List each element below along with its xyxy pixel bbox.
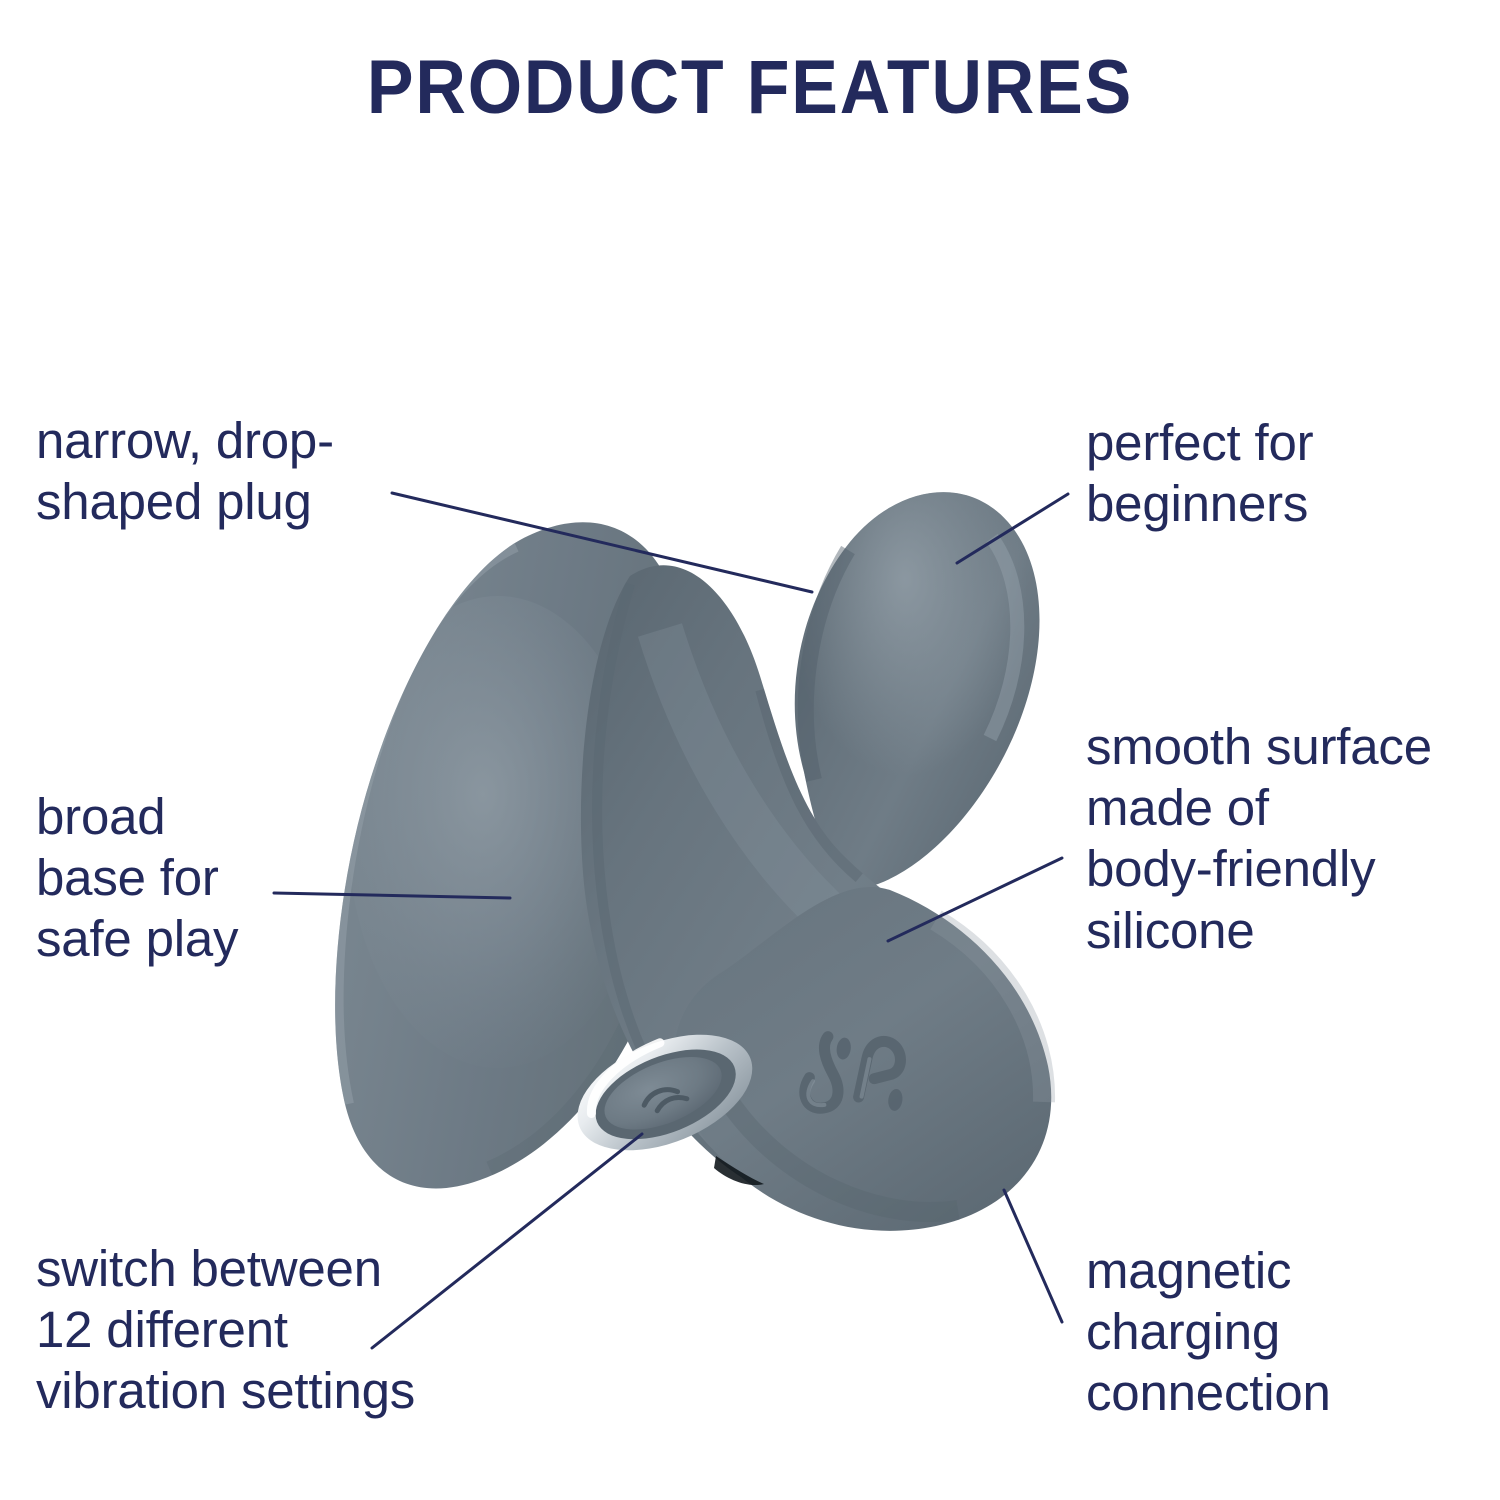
callout-vibration-settings: switch between 12 different vibration se…	[36, 1238, 556, 1422]
product-illustration	[330, 480, 1130, 1270]
callout-perfect-for-beginners: perfect for beginners	[1086, 412, 1486, 534]
callout-broad-base: broad base for safe play	[36, 786, 366, 970]
callout-magnetic-charging: magnetic charging connection	[1086, 1240, 1486, 1424]
product-features-infographic: PRODUCT FEATURES	[0, 0, 1500, 1500]
page-title: PRODUCT FEATURES	[60, 44, 1440, 131]
callout-narrow-plug: narrow, drop- shaped plug	[36, 410, 466, 532]
product-narrow-plug	[795, 492, 1040, 887]
product-image	[330, 480, 1130, 1270]
callout-smooth-silicone: smooth surface made of body-friendly sil…	[1086, 716, 1496, 961]
